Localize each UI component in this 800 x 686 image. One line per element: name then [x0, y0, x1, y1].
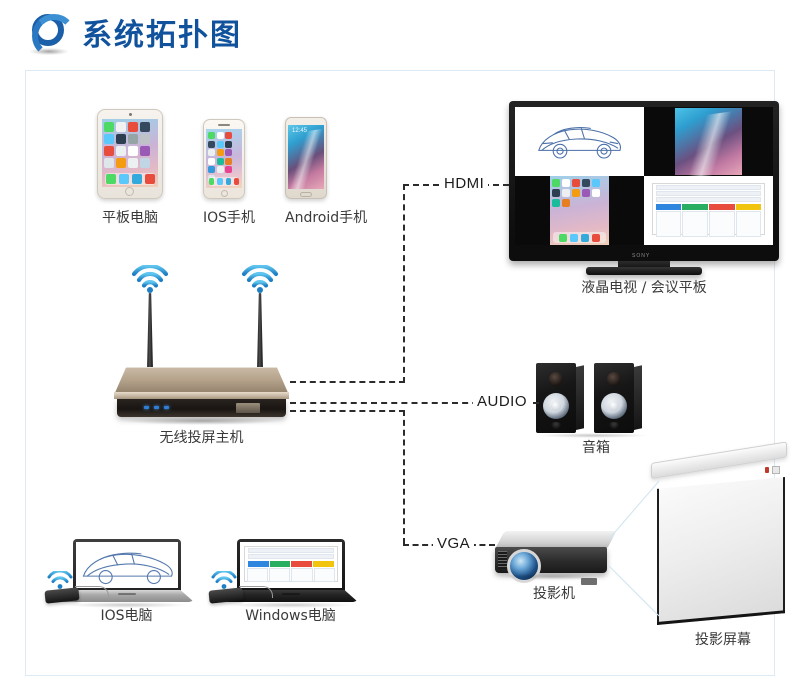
tv-brand-logo: SONY [632, 253, 650, 259]
tv-quadrant-android-mirror [644, 107, 773, 176]
node-iphone-label: IOS手机 [203, 207, 245, 227]
node-tablet-label: 平板电脑 [97, 207, 163, 227]
android-screen: 12:45 [288, 125, 324, 189]
tv-stand-base [586, 267, 702, 275]
iphone-screen [206, 129, 242, 188]
connector-label-hdmi: HDMI [440, 175, 488, 192]
bass-port-icon [551, 422, 561, 429]
connector-vga-segment-h1 [290, 410, 405, 412]
node-wireless-host-label: 无线投屏主机 [114, 427, 289, 447]
page-header: 系统拓扑图 [0, 0, 800, 70]
node-projection-screen: 投影屏幕 [639, 463, 787, 638]
router-trim [114, 392, 289, 399]
connector-hdmi-segment-h1 [290, 381, 405, 383]
topology-page: 系统拓扑图 [0, 0, 800, 686]
node-tablet: 平板电脑 [97, 109, 163, 199]
iphone-body [203, 119, 245, 199]
woofer-icon [601, 393, 627, 419]
connector-vga-segment-v [403, 410, 405, 544]
wifi-signal-icon [241, 265, 279, 293]
android-body: 12:45 [285, 117, 327, 199]
projection-screen-surface [657, 477, 785, 625]
screen-power-indicator-icon [765, 467, 769, 473]
tablet-home-button-icon [125, 187, 134, 196]
laptop-screen [76, 542, 178, 588]
node-android-phone: 12:45 Android手机 [285, 117, 327, 199]
tv-quadrant-car-sketch [515, 107, 644, 176]
router-port [236, 403, 260, 413]
node-projection-screen-label: 投影屏幕 [649, 629, 797, 649]
tweeter-icon [549, 372, 563, 386]
woofer-icon [543, 393, 569, 419]
iphone-speaker-icon [218, 124, 230, 126]
wifi-signal-icon [211, 571, 237, 589]
node-tv-label: 液晶电视 / 会议平板 [509, 277, 779, 297]
wifi-signal-icon [131, 265, 169, 293]
projector-vent [498, 551, 507, 569]
laptop-lid [73, 539, 181, 591]
node-windows-laptop-label: Windows电脑 [223, 605, 358, 625]
iphone-dock [209, 177, 239, 186]
router-base [117, 399, 286, 417]
tv-quadrant-document [644, 176, 773, 245]
router-led-indicators [144, 406, 169, 409]
node-projector-label: 投影机 [495, 583, 613, 603]
tablet-dock [105, 173, 155, 185]
tv-quadrant-ipad-mirror [515, 176, 644, 245]
laptop-screen [240, 542, 342, 588]
tweeter-icon [607, 372, 621, 386]
projection-screen-housing [651, 441, 787, 479]
node-speakers: 音箱 [536, 363, 656, 445]
bass-port-icon [609, 422, 619, 429]
tv-screen [515, 107, 773, 245]
node-ios-laptop: IOS电脑 [59, 539, 194, 611]
tablet-app-grid [104, 122, 156, 168]
node-windows-laptop: Windows电脑 [223, 539, 358, 611]
blue-ring-icon [30, 14, 68, 52]
node-projector: 投影机 [495, 523, 613, 603]
router-top-shell [114, 367, 289, 395]
router-antenna-left [147, 293, 153, 371]
node-ios-laptop-label: IOS电脑 [59, 605, 194, 625]
tablet-camera-icon [129, 113, 132, 116]
tv-bezel: SONY [509, 101, 779, 261]
speaker-left [536, 363, 584, 433]
connector-label-vga: VGA [433, 535, 474, 552]
screen-control-button[interactable] [772, 466, 780, 474]
connector-label-audio: AUDIO [473, 393, 531, 410]
connector-hdmi-segment-v [403, 184, 405, 383]
tablet-body [97, 109, 163, 199]
tablet-screen [102, 119, 158, 187]
wireless-dongle [209, 579, 251, 605]
diagram-panel: 平板电脑 [25, 70, 775, 676]
iphone-home-button-icon [221, 190, 228, 197]
android-home-button-icon [300, 192, 312, 197]
laptop-lid [237, 539, 345, 591]
node-android-label: Android手机 [285, 207, 327, 227]
wifi-signal-icon [47, 571, 73, 589]
iphone-app-grid [208, 132, 240, 182]
page-title: 系统拓扑图 [82, 10, 242, 54]
router-antenna-right [257, 293, 263, 371]
node-iphone: IOS手机 [203, 119, 245, 199]
wireless-dongle [45, 579, 87, 605]
router-shadow [122, 417, 282, 425]
android-clock-text: 12:45 [292, 128, 307, 134]
node-speakers-label: 音箱 [536, 437, 656, 457]
node-tv: SONY 液晶电视 / 会议平板 [509, 101, 779, 287]
node-wireless-host: 无线投屏主机 [114, 259, 289, 439]
speaker-right [594, 363, 642, 433]
